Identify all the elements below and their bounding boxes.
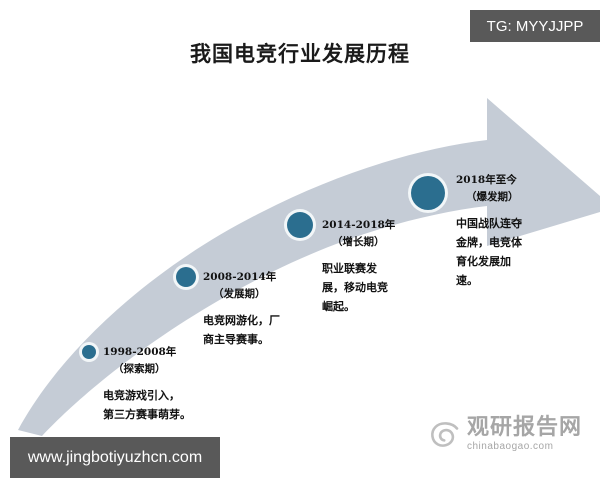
- milestone-period-2: 2008-2014年: [203, 271, 276, 283]
- brand-logo: 观研报告网 chinabaogao.com: [428, 417, 582, 452]
- tg-watermark-text: TG: MYYJJPP: [487, 18, 584, 35]
- milestone-dot-2: [176, 267, 196, 287]
- milestone-period-3: 2014-2018年: [322, 219, 395, 231]
- milestone-period-4: 2018年至今: [456, 174, 517, 186]
- swirl-logo-icon: [428, 418, 462, 452]
- brand-name-cn: 观研报告网: [467, 417, 582, 439]
- milestone-stage-1: （探索期）: [103, 361, 176, 378]
- milestone-stage-4: （爆发期）: [456, 189, 519, 206]
- milestone-dot-1: [82, 345, 96, 359]
- milestone-stage-2: （发展期）: [203, 286, 276, 303]
- milestone-description-2: 电竞网游化，厂 商主导赛事。: [203, 311, 280, 349]
- site-watermark-badge: www.jingbotiyuzhcn.com: [10, 437, 220, 478]
- milestone-label-1: 1998-2008年 （探索期）: [103, 344, 176, 378]
- milestone-period-1: 1998-2008年: [103, 346, 176, 358]
- milestone-description-3: 职业联赛发 展，移动电竞 崛起。: [322, 259, 388, 316]
- milestone-label-4: 2018年至今 （爆发期）: [456, 172, 519, 206]
- site-watermark-text: www.jingbotiyuzhcn.com: [28, 449, 202, 467]
- milestone-stage-3: （增长期）: [322, 234, 395, 251]
- milestone-description-4: 中国战队连夺 金牌，电竞体 育化发展加 速。: [456, 214, 522, 290]
- tg-watermark-badge: TG: MYYJJPP: [470, 10, 600, 42]
- brand-name-en: chinabaogao.com: [467, 442, 553, 452]
- milestone-description-1: 电竞游戏引入， 第三方赛事萌芽。: [103, 386, 191, 424]
- milestone-label-2: 2008-2014年 （发展期）: [203, 269, 276, 303]
- infographic-canvas: 我国电竞行业发展历程 1998-2008年 （探索期） 电竞游戏引入， 第三方赛…: [0, 0, 600, 480]
- milestone-label-3: 2014-2018年 （增长期）: [322, 217, 395, 251]
- milestone-dot-3: [287, 212, 313, 238]
- milestone-dot-4: [411, 176, 445, 210]
